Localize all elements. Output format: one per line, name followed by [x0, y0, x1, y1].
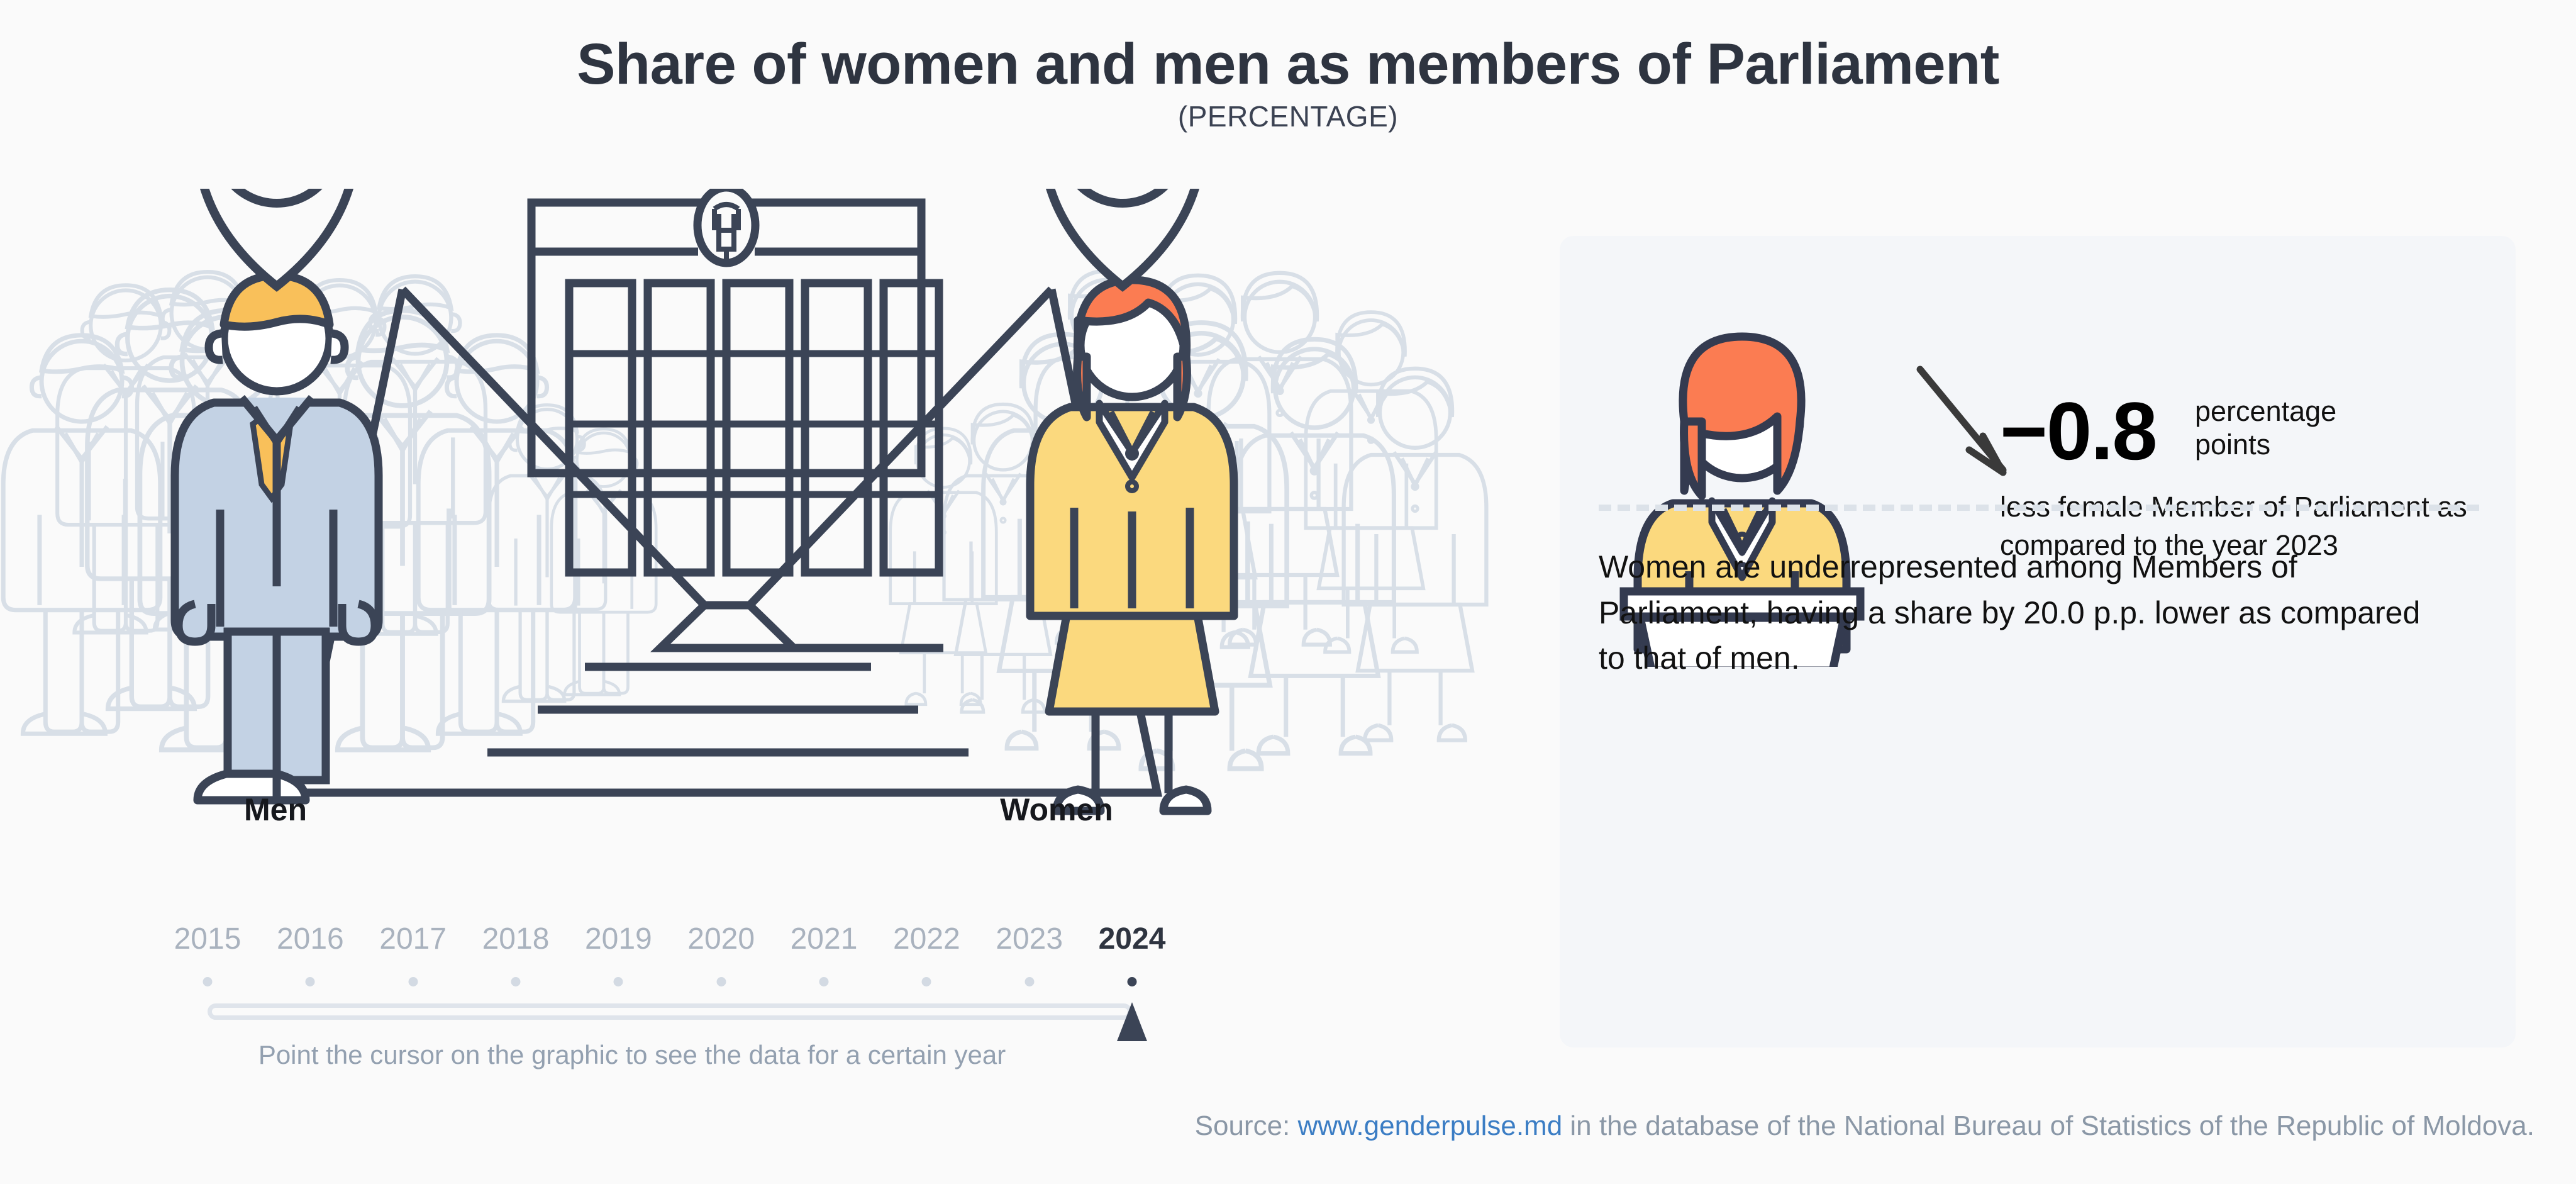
infographic-page: Share of women and men as members of Par… — [0, 0, 2576, 1184]
page-title: Share of women and men as members of Par… — [0, 31, 2576, 98]
slider-thumb[interactable] — [1117, 1002, 1147, 1041]
year-dot-2017[interactable] — [408, 977, 418, 986]
source-prefix: Source: — [1195, 1110, 1298, 1141]
delta-unit: percentage points — [2195, 394, 2459, 461]
panel-divider — [1599, 505, 2479, 511]
insight-panel: −0.8 percentage points less female Membe… — [1560, 236, 2516, 1047]
delta-unit-line1: percentage — [2195, 394, 2459, 428]
year-label-2021[interactable]: 2021 — [791, 922, 858, 956]
men-value-pin: 60.0% — [197, 189, 356, 286]
year-dot-2022[interactable] — [922, 977, 931, 986]
year-dot-2024[interactable] — [1128, 977, 1137, 986]
year-dot-2021[interactable] — [819, 977, 829, 986]
source-link[interactable]: www.genderpulse.md — [1298, 1110, 1563, 1141]
source-note: Source: www.genderpulse.md in the databa… — [0, 1110, 2534, 1142]
year-label-2023[interactable]: 2023 — [996, 922, 1063, 956]
year-label-2016[interactable]: 2016 — [277, 922, 344, 956]
panel-summary: Women are underrepresented among Members… — [1599, 544, 2429, 681]
year-dot-2016[interactable] — [306, 977, 315, 986]
year-dot-2019[interactable] — [614, 977, 623, 986]
category-label-men: Men — [143, 791, 408, 828]
year-label-2017[interactable]: 2017 — [379, 922, 447, 956]
year-label-2015[interactable]: 2015 — [174, 922, 241, 956]
year-dot-2023[interactable] — [1024, 977, 1034, 986]
year-slider[interactable]: 2015201620172018201920202021202220232024… — [208, 922, 1170, 1047]
source-suffix: in the database of the National Bureau o… — [1562, 1110, 2534, 1141]
year-dot-2018[interactable] — [511, 977, 521, 986]
delta-value: −0.8 — [2000, 384, 2157, 478]
year-label-2020[interactable]: 2020 — [687, 922, 755, 956]
page-subtitle: (PERCENTAGE) — [0, 99, 2576, 133]
delta-unit-line2: points — [2195, 428, 2459, 461]
year-label-2024[interactable]: 2024 — [1099, 922, 1166, 956]
category-label-women: Women — [924, 791, 1189, 828]
highlighted-man-icon — [175, 276, 379, 800]
women-value-pin: 40.0% — [1043, 189, 1202, 286]
year-label-2018[interactable]: 2018 — [482, 922, 550, 956]
year-label-2022[interactable]: 2022 — [893, 922, 960, 956]
year-label-2019[interactable]: 2019 — [585, 922, 652, 956]
parliament-scene: 60.0% 40.0% — [0, 189, 1522, 856]
slider-hint: Point the cursor on the graphic to see t… — [208, 1040, 1057, 1070]
slider-track[interactable] — [208, 1003, 1132, 1020]
year-labels: 2015201620172018201920202021202220232024 — [208, 922, 1170, 966]
year-dot-2020[interactable] — [716, 977, 726, 986]
year-dot-2015[interactable] — [203, 977, 213, 986]
